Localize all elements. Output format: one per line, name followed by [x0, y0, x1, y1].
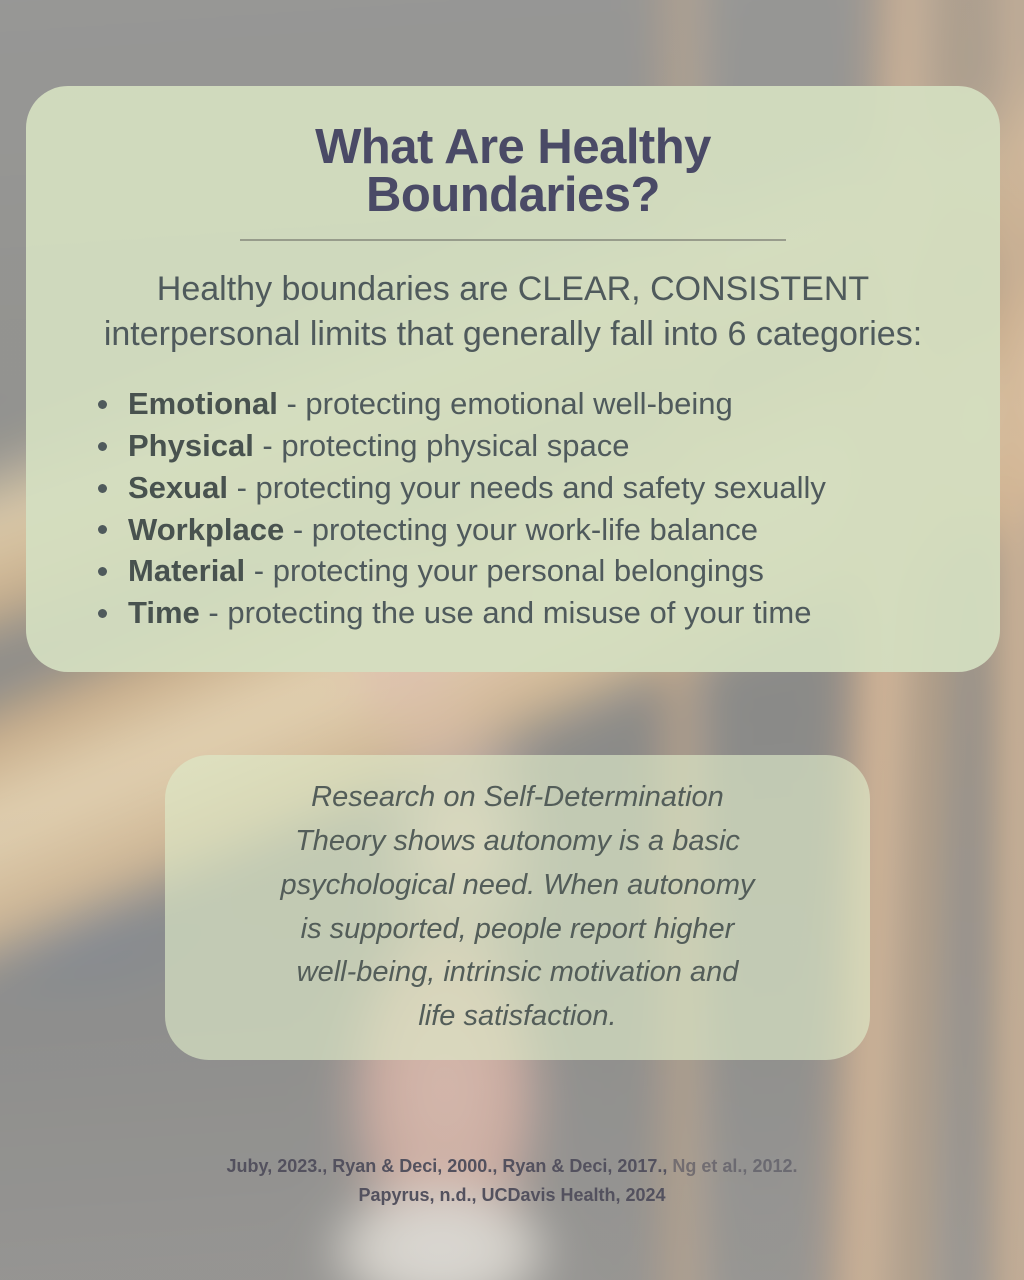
research-line-5: well-being, intrinsic motivation and — [281, 951, 755, 995]
main-definition-card: What Are Healthy Boundaries? Healthy bou… — [26, 86, 1000, 672]
category-term: Emotional — [128, 386, 278, 421]
category-term: Workplace — [128, 512, 284, 547]
citation-line-2: Papyrus, n.d., UCDavis Health, 2024 — [0, 1181, 1024, 1210]
title-line-2: Boundaries? — [56, 172, 970, 220]
list-item: Time - protecting the use and misuse of … — [92, 592, 970, 634]
research-line-2: Theory shows autonomy is a basic — [281, 820, 755, 864]
bullet-dot-icon — [98, 609, 107, 618]
research-line-4: is supported, people report higher — [281, 908, 755, 952]
citations-footer: Juby, 2023., Ryan & Deci, 2000., Ryan & … — [0, 1152, 1024, 1210]
category-description: - protecting emotional well-being — [278, 386, 733, 421]
title-divider — [240, 239, 786, 241]
research-line-6: life satisfaction. — [281, 995, 755, 1039]
bullet-dot-icon — [98, 442, 107, 451]
research-line-3: psychological need. When autonomy — [281, 864, 755, 908]
list-item: Physical - protecting physical space — [92, 425, 970, 467]
category-term: Physical — [128, 428, 254, 463]
citation-line-1-main: Juby, 2023., Ryan & Deci, 2000., Ryan & … — [227, 1156, 673, 1176]
boundary-categories-list: Emotional - protecting emotional well-be… — [92, 383, 970, 633]
category-description: - protecting your work-life balance — [284, 512, 758, 547]
research-line-1: Research on Self-Determination — [281, 776, 755, 820]
category-term: Material — [128, 553, 245, 588]
page-title: What Are Healthy Boundaries? — [56, 124, 970, 219]
category-term: Sexual — [128, 470, 228, 505]
category-description: - protecting your needs and safety sexua… — [228, 470, 826, 505]
research-note-text: Research on Self-Determination Theory sh… — [257, 776, 779, 1039]
bullet-dot-icon — [98, 567, 107, 576]
bullet-dot-icon — [98, 400, 107, 409]
category-description: - protecting physical space — [254, 428, 630, 463]
intro-paragraph: Healthy boundaries are CLEAR, CONSISTENT… — [56, 267, 970, 357]
category-description: - protecting the use and misuse of your … — [200, 595, 812, 630]
list-item: Emotional - protecting emotional well-be… — [92, 383, 970, 425]
citation-line-1: Juby, 2023., Ryan & Deci, 2000., Ryan & … — [0, 1152, 1024, 1181]
research-note-card: Research on Self-Determination Theory sh… — [165, 755, 870, 1060]
list-item: Material - protecting your personal belo… — [92, 550, 970, 592]
category-term: Time — [128, 595, 200, 630]
citation-line-1-faded: Ng et al., 2012. — [672, 1156, 797, 1176]
intro-line-1: Healthy boundaries are CLEAR, CONSISTENT — [56, 267, 970, 312]
infographic-poster: What Are Healthy Boundaries? Healthy bou… — [0, 0, 1024, 1280]
list-item: Workplace - protecting your work-life ba… — [92, 509, 970, 551]
category-description: - protecting your personal belongings — [245, 553, 764, 588]
intro-line-2: interpersonal limits that generally fall… — [56, 312, 970, 357]
list-item: Sexual - protecting your needs and safet… — [92, 467, 970, 509]
bullet-dot-icon — [98, 484, 107, 493]
title-line-1: What Are Healthy — [56, 124, 970, 172]
bullet-dot-icon — [98, 525, 107, 534]
